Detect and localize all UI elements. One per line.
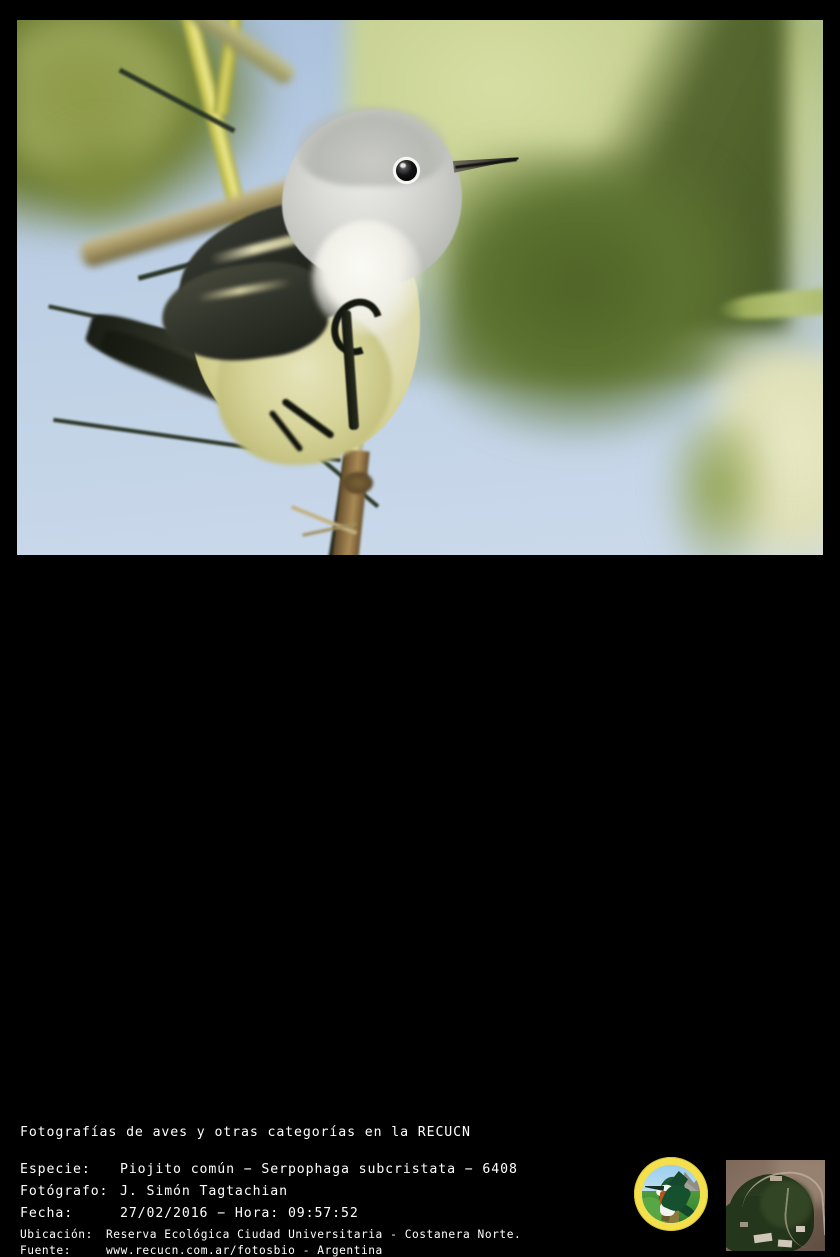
bird-subject xyxy=(157,90,527,490)
caption-title: Fotografías de aves y otras categorías e… xyxy=(20,1125,471,1140)
satellite-building xyxy=(770,1176,782,1181)
value-fuente: www.recucn.com.ar/fotosbio - Argentina xyxy=(106,1244,383,1257)
bird-eye-highlight xyxy=(400,163,406,168)
bird-photograph[interactable] xyxy=(17,20,823,555)
value-fecha: 27/02/2016 − Hora: 09:57:52 xyxy=(120,1206,359,1221)
caption-row-especie: Especie:Piojito común − Serpophaga subcr… xyxy=(20,1162,518,1177)
label-fotografo: Fotógrafo: xyxy=(20,1184,120,1199)
caption-row-fecha: Fecha:27/02/2016 − Hora: 09:57:52 xyxy=(20,1206,359,1221)
satellite-building xyxy=(796,1226,805,1232)
recucn-badge-logo[interactable] xyxy=(634,1157,708,1231)
badge-scene xyxy=(642,1165,700,1223)
satellite-building xyxy=(778,1240,792,1248)
caption-row-ubicacion: Ubicación:Reserva Ecológica Ciudad Unive… xyxy=(20,1228,521,1241)
photo-caption-card: Fotografías de aves y otras categorías e… xyxy=(0,0,840,709)
label-especie: Especie: xyxy=(20,1162,120,1177)
value-ubicacion: Reserva Ecológica Ciudad Universitaria -… xyxy=(106,1228,521,1241)
label-ubicacion: Ubicación: xyxy=(20,1228,106,1241)
caption-row-fuente: Fuente:www.recucn.com.ar/fotosbio - Arge… xyxy=(20,1244,383,1257)
caption-panel: Fotografías de aves y otras categorías e… xyxy=(0,555,840,709)
value-especie: Piojito común − Serpophaga subcristata −… xyxy=(120,1162,518,1177)
label-fecha: Fecha: xyxy=(20,1206,120,1221)
bird-eye xyxy=(396,160,417,181)
label-fuente: Fuente: xyxy=(20,1244,106,1257)
satellite-map-thumbnail[interactable] xyxy=(726,1160,825,1251)
satellite-building xyxy=(740,1222,748,1227)
bird-crown xyxy=(297,106,447,186)
value-fotografo: J. Simón Tagtachian xyxy=(120,1184,288,1199)
caption-row-fotografo: Fotógrafo:J. Simón Tagtachian xyxy=(20,1184,288,1199)
foliage-bottom-right-2 xyxy=(657,420,777,555)
